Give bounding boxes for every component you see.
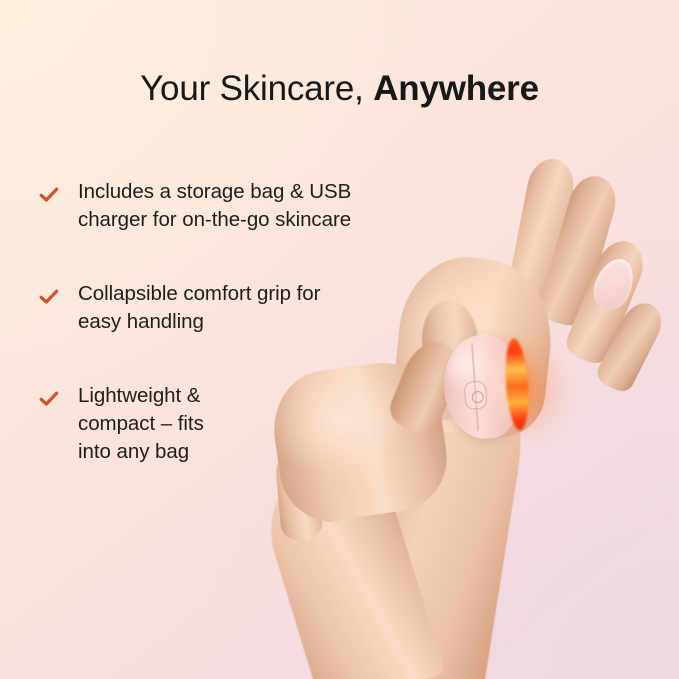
page-title-emphasis: Anywhere (373, 69, 539, 108)
promo-image-canvas: Your Skincare, Anywhere Includes a stora… (0, 0, 679, 679)
feature-list-item: Collapsible comfort grip for easy handli… (38, 280, 438, 336)
back-hand-ring-fingernail (588, 253, 641, 315)
feature-list-item-text: Collapsible comfort grip for easy handli… (78, 280, 320, 336)
check-icon (38, 184, 60, 206)
skincare-device (440, 331, 547, 442)
back-hand-index-finger (505, 155, 578, 307)
feature-list-item-text: Lightweight & compact – fits into any ba… (78, 382, 204, 466)
feature-list-item: Lightweight & compact – fits into any ba… (38, 382, 438, 466)
device-power-button (464, 381, 488, 410)
feature-list: Includes a storage bag & USB charger for… (38, 178, 438, 467)
page-title: Your Skincare, Anywhere (0, 69, 679, 109)
check-icon (38, 388, 60, 410)
check-icon (38, 286, 60, 308)
front-hand-pinky-fingernail (304, 475, 338, 519)
feature-list-item-text: Includes a storage bag & USB charger for… (78, 178, 351, 234)
back-hand-pinky-finger (593, 296, 669, 395)
front-hand-forearm (255, 451, 445, 679)
page-title-lead: Your Skincare, (140, 69, 373, 108)
feature-list-item: Includes a storage bag & USB charger for… (38, 178, 438, 234)
